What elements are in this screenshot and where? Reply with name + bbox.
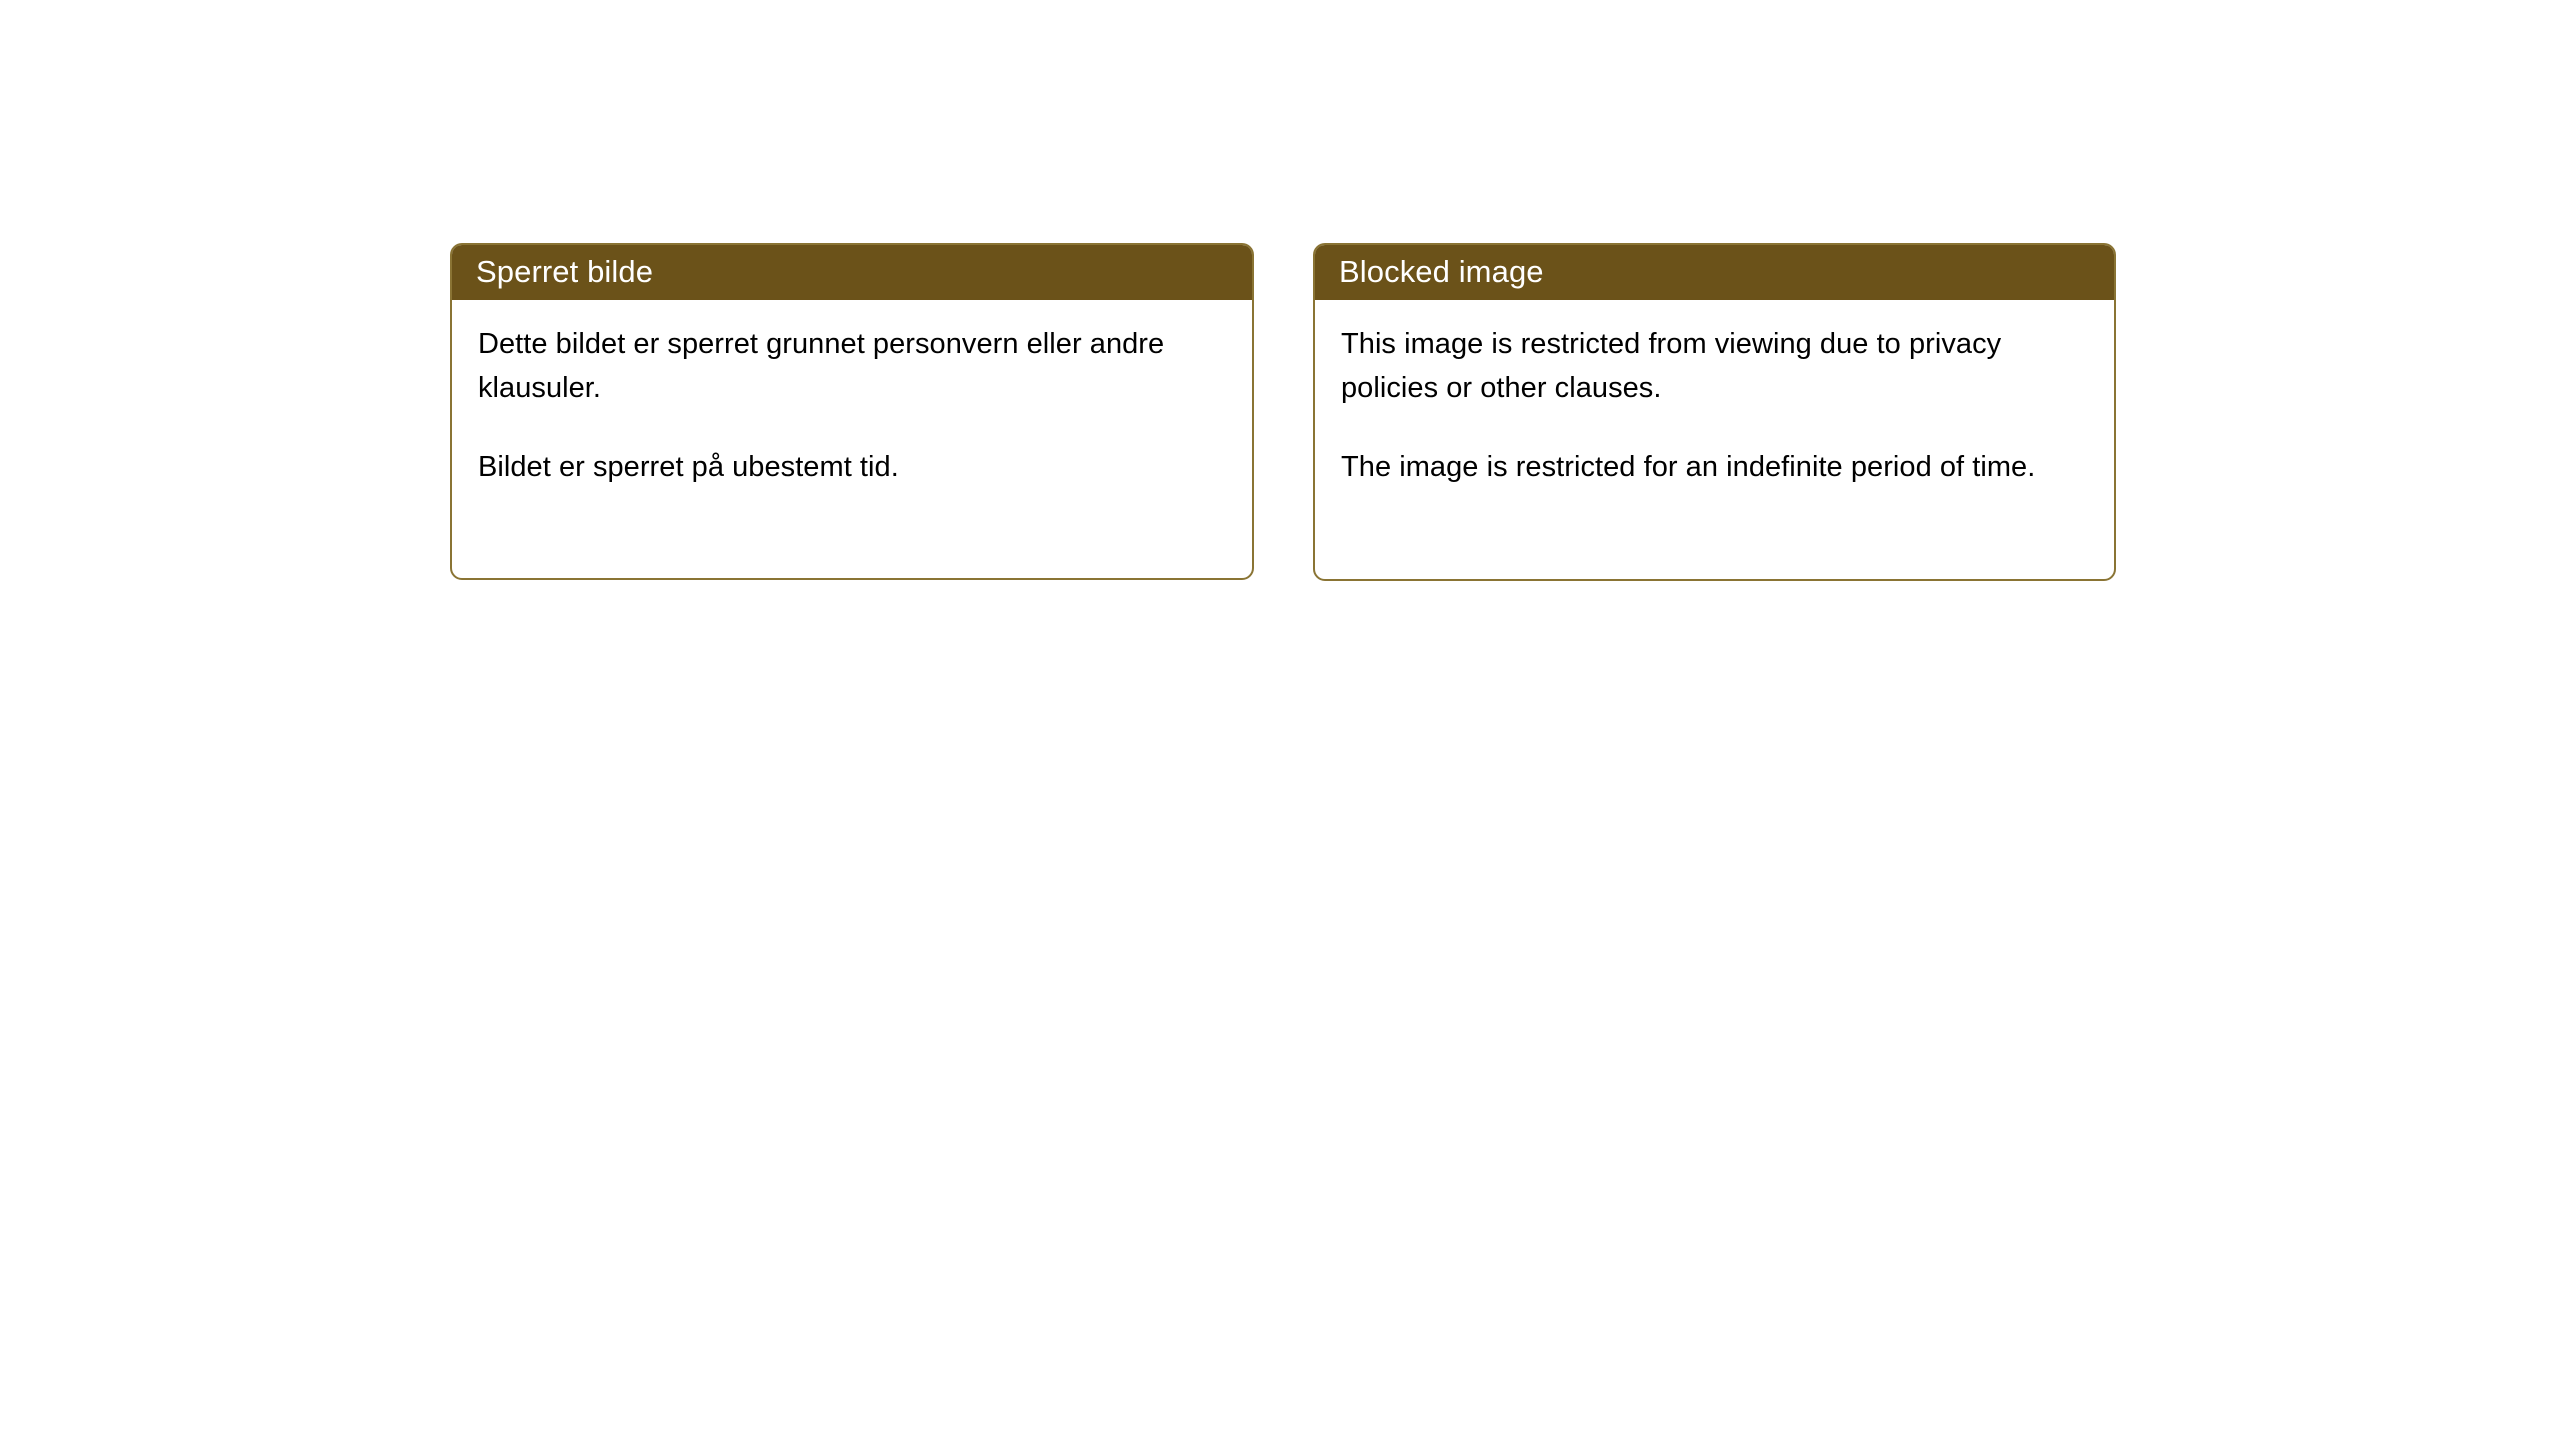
card-paragraph-reason-english: This image is restricted from viewing du… <box>1341 322 2088 410</box>
card-body-norwegian: Dette bildet er sperret grunnet personve… <box>452 300 1252 489</box>
card-title-norwegian: Sperret bilde <box>476 256 653 287</box>
card-paragraph-duration-english: The image is restricted for an indefinit… <box>1341 445 2088 489</box>
blocked-image-card-english: Blocked image This image is restricted f… <box>1313 243 2116 581</box>
blocked-image-notice-area: Sperret bilde Dette bildet er sperret gr… <box>0 0 2560 1440</box>
card-paragraph-reason-norwegian: Dette bildet er sperret grunnet personve… <box>478 322 1226 410</box>
card-body-english: This image is restricted from viewing du… <box>1315 300 2114 489</box>
blocked-image-card-norwegian: Sperret bilde Dette bildet er sperret gr… <box>450 243 1254 580</box>
card-header-norwegian: Sperret bilde <box>450 243 1254 300</box>
card-title-english: Blocked image <box>1339 256 1544 287</box>
card-paragraph-duration-norwegian: Bildet er sperret på ubestemt tid. <box>478 445 1226 489</box>
card-header-english: Blocked image <box>1313 243 2116 300</box>
